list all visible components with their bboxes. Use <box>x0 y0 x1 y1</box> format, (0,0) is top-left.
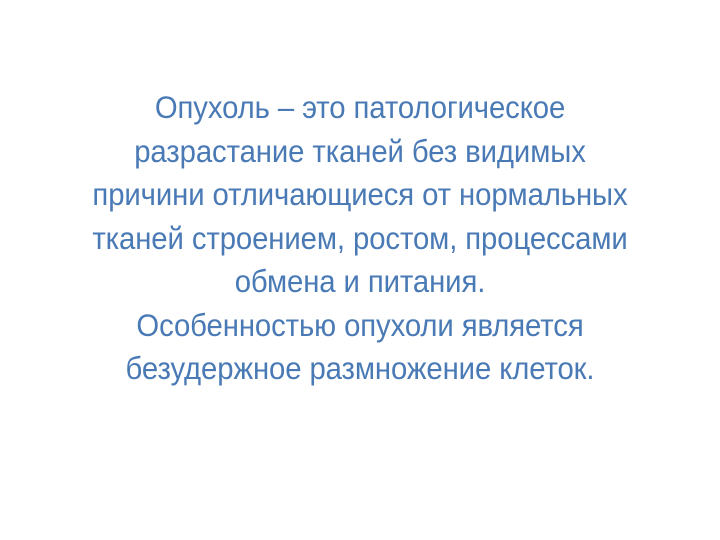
presentation-slide: Опухоль – это патологическое разрастание… <box>0 0 720 540</box>
body-text-line-3: причини отличающиеся от нормальных <box>25 173 695 217</box>
body-text-line-6: Особенностью опухоли является <box>25 304 695 348</box>
slide-body-text: Опухоль – это патологическое разрастание… <box>0 86 720 391</box>
body-text-line-1: Опухоль – это патологическое <box>25 86 695 130</box>
body-text-line-7: безудержное размножение клеток. <box>25 347 695 391</box>
body-text-line-5: обмена и питания. <box>25 260 695 304</box>
body-text-line-4: тканей строением, ростом, процессами <box>25 217 695 261</box>
body-text-line-2: разрастание тканей без видимых <box>25 130 695 174</box>
